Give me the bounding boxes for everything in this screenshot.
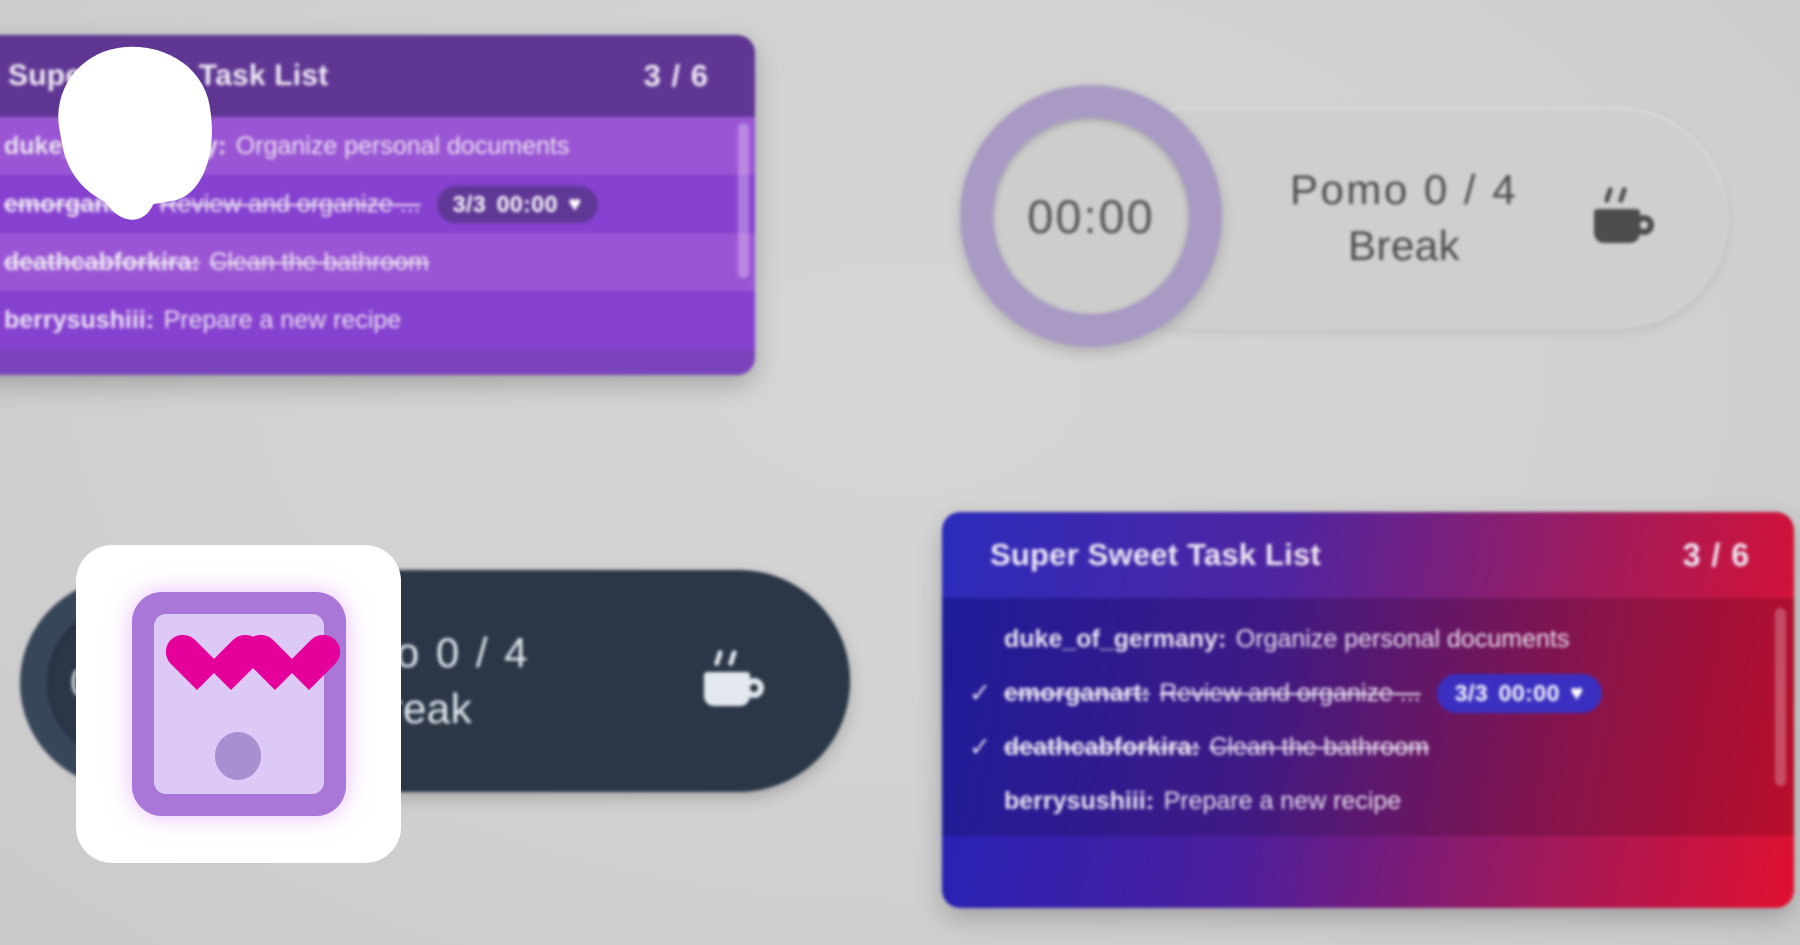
emote-mouth: [215, 732, 261, 780]
overlay-layer: [0, 0, 1800, 945]
heart-eye-left-icon: [164, 636, 230, 696]
white-blob-shape: [47, 34, 224, 218]
heart-eyes-emote-icon: [132, 592, 346, 816]
emote-face: [154, 614, 324, 794]
heart-eye-right-icon: [242, 636, 308, 696]
heart-eyes-emote-tile[interactable]: [76, 545, 401, 863]
